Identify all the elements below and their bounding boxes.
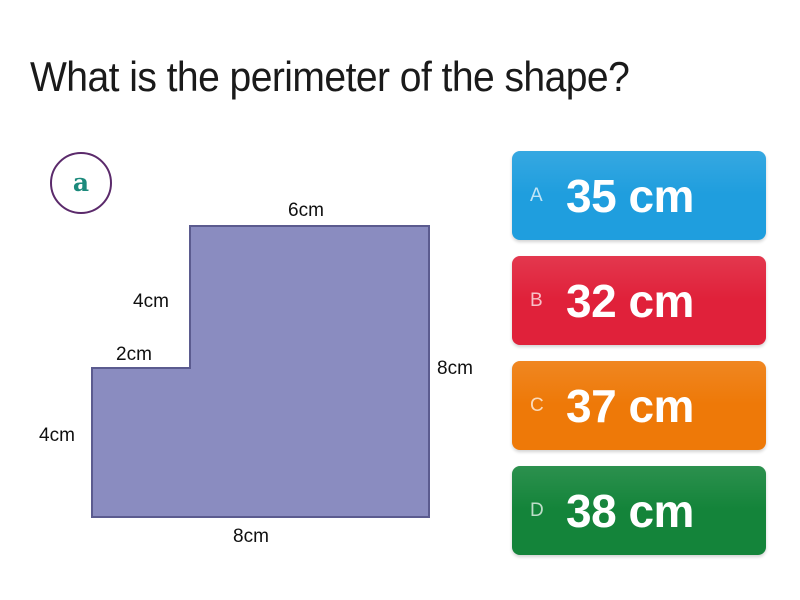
answer-options-list: A 35 cm B 32 cm C 37 cm D 38 cm	[512, 151, 766, 571]
dimension-label-bottom: 8cm	[233, 526, 269, 548]
dimension-label-step-vertical: 4cm	[133, 291, 169, 313]
answer-option-a[interactable]: A 35 cm	[512, 151, 766, 240]
l-shape-figure	[0, 0, 500, 600]
dimension-label-step-horizontal: 2cm	[116, 344, 152, 366]
dimension-label-right: 8cm	[437, 358, 473, 380]
dimension-label-top: 6cm	[288, 200, 324, 222]
answer-option-a-letter: A	[530, 186, 556, 205]
answer-option-d[interactable]: D 38 cm	[512, 466, 766, 555]
quiz-slide: What is the perimeter of the shape? a 6c…	[0, 0, 800, 600]
answer-option-a-label: 35 cm	[566, 173, 694, 219]
answer-option-d-letter: D	[530, 501, 556, 520]
shape-diagram: 6cm 4cm 2cm 8cm 4cm 8cm	[0, 0, 500, 600]
answer-option-d-label: 38 cm	[566, 488, 694, 534]
answer-option-b-letter: B	[530, 291, 556, 310]
l-shape-polygon	[92, 226, 429, 517]
dimension-label-left: 4cm	[39, 425, 75, 447]
answer-option-c-label: 37 cm	[566, 383, 694, 429]
answer-option-b[interactable]: B 32 cm	[512, 256, 766, 345]
answer-option-b-label: 32 cm	[566, 278, 694, 324]
answer-option-c-letter: C	[530, 396, 556, 415]
answer-option-c[interactable]: C 37 cm	[512, 361, 766, 450]
